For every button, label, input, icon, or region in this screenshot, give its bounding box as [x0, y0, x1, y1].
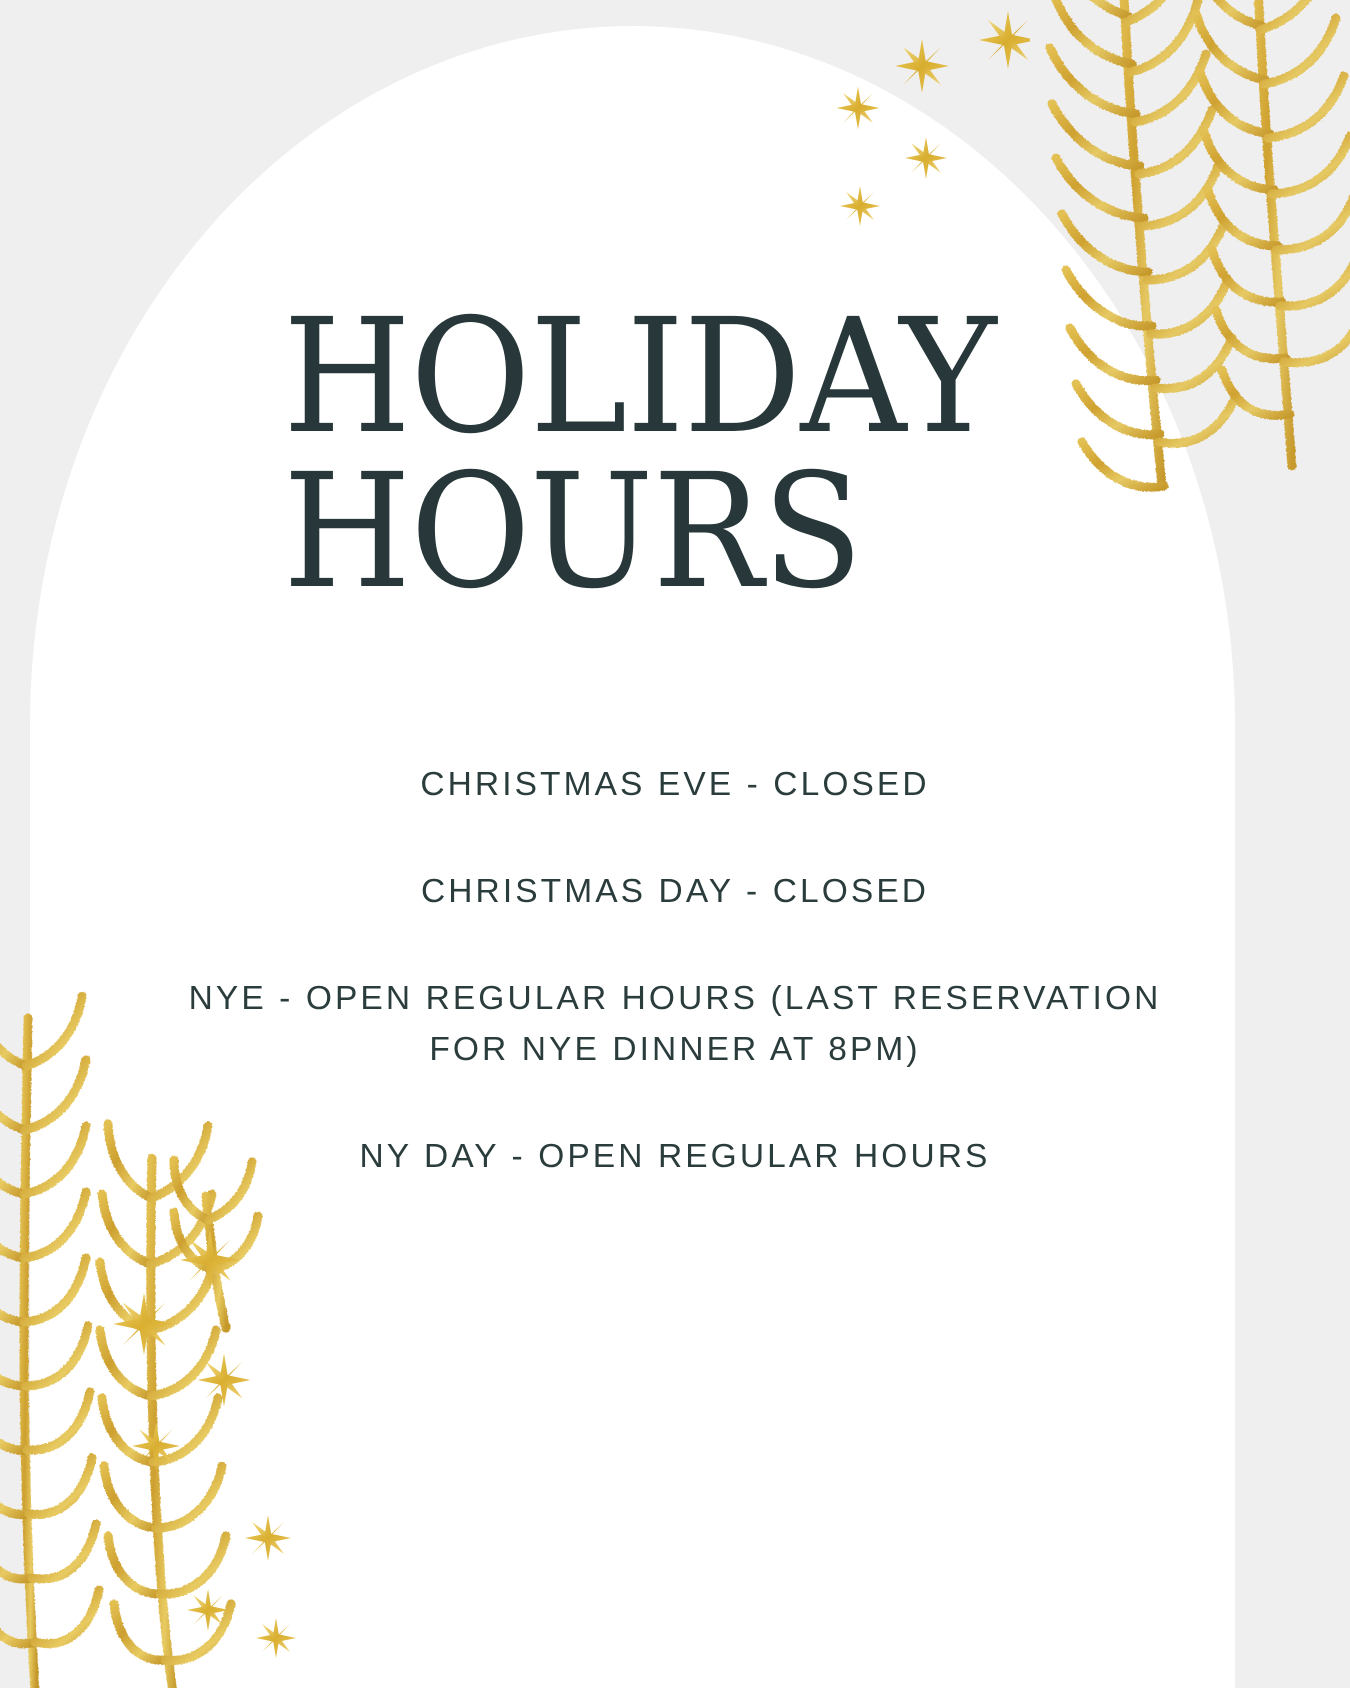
- title-line-2: HOURS: [283, 455, 953, 610]
- hours-item-christmas-eve: CHRISTMAS EVE - CLOSED: [175, 760, 1175, 811]
- page-title: HOLIDAY HOURS: [283, 300, 1003, 610]
- hours-item-nye: NYE - OPEN REGULAR HOURS (LAST RESERVATI…: [175, 974, 1175, 1076]
- hours-item-christmas-day: CHRISTMAS DAY - CLOSED: [175, 867, 1175, 918]
- holiday-hours-list: CHRISTMAS EVE - CLOSED CHRISTMAS DAY - C…: [175, 760, 1175, 1183]
- title-line-1: HOLIDAY: [283, 300, 953, 455]
- holiday-hours-poster: HOLIDAY HOURS CHRISTMAS EVE - CLOSED CHR…: [0, 0, 1350, 1688]
- hours-item-ny-day: NY DAY - OPEN REGULAR HOURS: [175, 1132, 1175, 1183]
